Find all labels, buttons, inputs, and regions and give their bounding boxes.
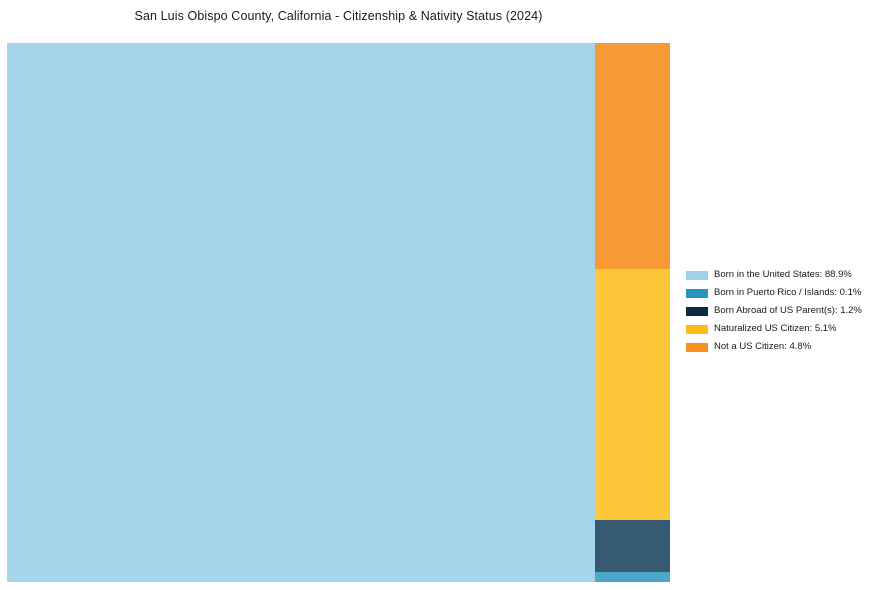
legend-item-not-a-us-citizen[interactable]: Not a US Citizen: 4.8% [686,338,882,356]
treemap-tile-born-in-the-united-states[interactable] [7,43,595,582]
legend-swatch-icon [686,271,708,280]
legend-item-naturalized-us-citizen[interactable]: Naturalized US Citizen: 5.1% [686,320,882,338]
treemap-plot-area [7,43,670,582]
page-title: San Luis Obispo County, California - Cit… [0,9,677,23]
legend-item-label: Not a US Citizen: 4.8% [714,342,811,352]
legend-item-born-in-the-united-states[interactable]: Born in the United States: 88.9% [686,266,882,284]
chart-legend: Born in the United States: 88.9% Born in… [686,266,882,356]
treemap-chart: San Luis Obispo County, California - Cit… [0,0,889,590]
treemap-tile-born-abroad-of-us-parents[interactable] [595,520,670,572]
legend-item-label: Born in Puerto Rico / Islands: 0.1% [714,288,861,298]
treemap-tile-naturalized-us-citizen[interactable] [595,269,670,520]
legend-swatch-icon [686,325,708,334]
legend-item-label: Born Abroad of US Parent(s): 1.2% [714,306,862,316]
legend-item-born-abroad-of-us-parents[interactable]: Born Abroad of US Parent(s): 1.2% [686,302,882,320]
treemap-tile-not-a-us-citizen[interactable] [595,43,670,269]
treemap-tile-born-in-puerto-rico-islands[interactable] [595,572,670,582]
legend-swatch-icon [686,307,708,316]
legend-item-born-in-puerto-rico-islands[interactable]: Born in Puerto Rico / Islands: 0.1% [686,284,882,302]
legend-item-label: Naturalized US Citizen: 5.1% [714,324,837,334]
legend-swatch-icon [686,289,708,298]
legend-swatch-icon [686,343,708,352]
legend-item-label: Born in the United States: 88.9% [714,270,852,280]
